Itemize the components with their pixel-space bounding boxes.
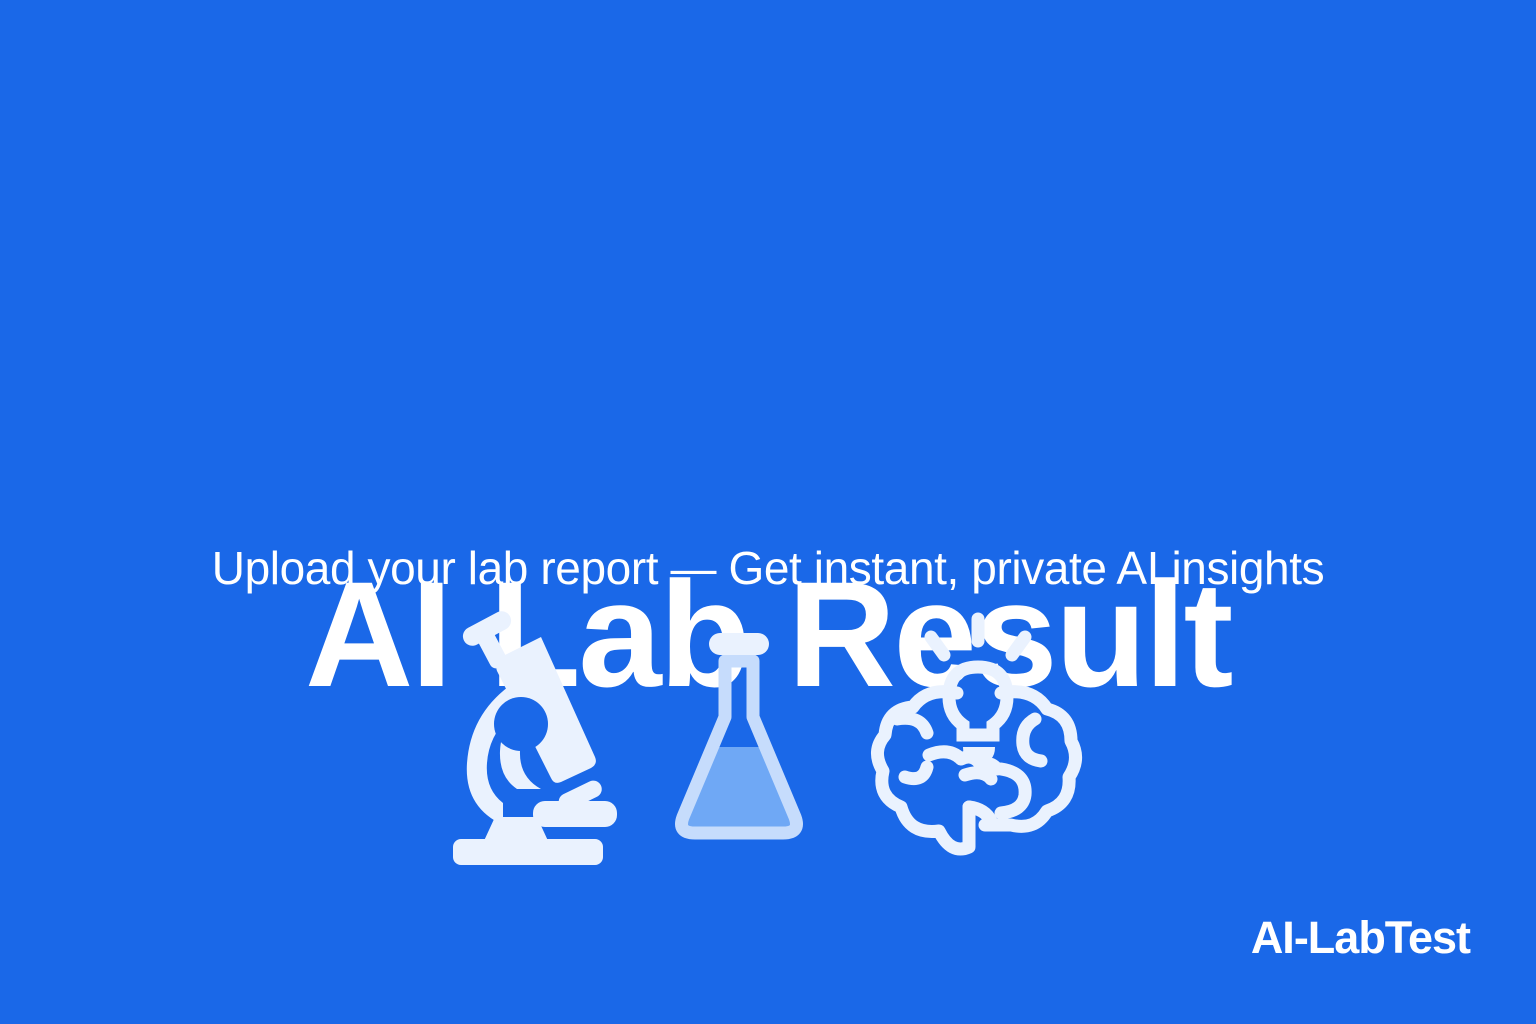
microscope-icon xyxy=(445,611,613,867)
icon-row xyxy=(0,608,1536,870)
flask-icon xyxy=(669,621,809,857)
brand-logo: AI-LabTest xyxy=(1251,912,1470,964)
poster-canvas: AI Lab Result Interpretation Upload your… xyxy=(0,0,1536,1024)
page-subtitle: Upload your lab report — Get instant, pr… xyxy=(0,540,1536,596)
brain-lightbulb-icon xyxy=(865,611,1091,867)
page-title-line-2: Interpretation xyxy=(0,1019,1536,1024)
